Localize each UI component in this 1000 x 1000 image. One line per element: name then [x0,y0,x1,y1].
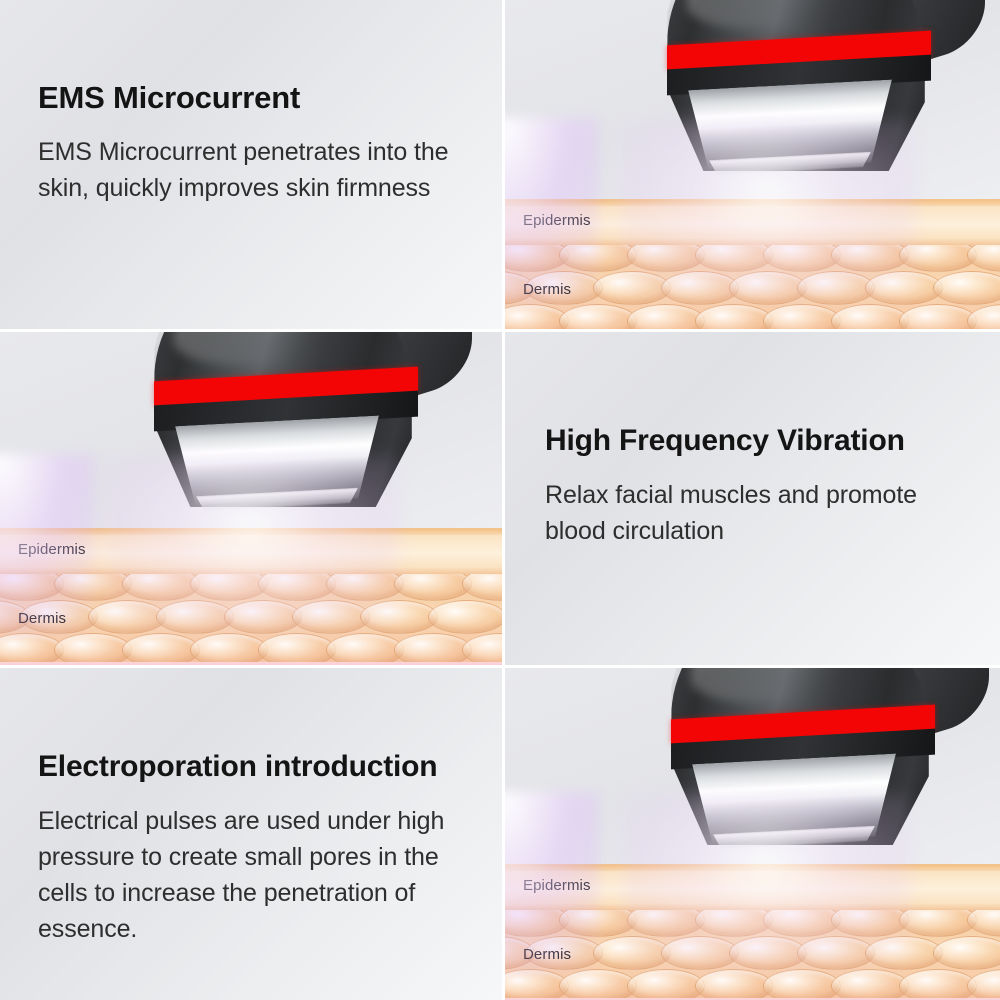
device-body [641,0,971,171]
panel-body-electroporation: Electrical pulses are used under high pr… [38,803,472,947]
skin-label-dermis: Dermis [18,610,66,627]
skin-cross-section: Epidermis Dermis M [0,528,502,668]
page-title-electroporation: Electroporation introduction [38,750,472,785]
skin-cross-section: Epidermis Dermis M [505,199,1000,332]
panel-high-frequency-illustration: Epidermis Dermis M [0,332,505,668]
dermis-cell-row [0,633,502,662]
skin-layer-epidermis: Epidermis [0,528,502,574]
dermis-cell-row [505,936,982,970]
panel-body-high-frequency: Relax facial muscles and promote blood c… [545,477,982,549]
skin-layer-dermis: Dermis [505,245,1000,332]
facial-device-illustration [645,668,975,845]
panel-high-frequency-text: High Frequency Vibration Relax facial mu… [505,332,1000,668]
dermis-cell-row [0,600,484,634]
device-gloss-highlight [174,332,346,365]
page-title-high-frequency: High Frequency Vibration [545,424,982,459]
skin-label-epidermis: Epidermis [523,212,591,229]
facial-device-illustration [641,0,971,171]
device-gloss-highlight [691,668,863,703]
panel-ems-microcurrent-text: EMS Microcurrent EMS Microcurrent penetr… [0,0,505,332]
skin-layer-epidermis: Epidermis [505,199,1000,245]
skin-label-dermis: Dermis [523,946,571,963]
device-body [645,668,975,845]
dermis-cell-row [505,969,1000,998]
device-body [128,332,458,507]
text-block: EMS Microcurrent EMS Microcurrent penetr… [0,0,502,206]
panel-body-ems: EMS Microcurrent penetrates into the ski… [38,134,472,206]
dermis-cell-row [505,910,1000,937]
panel-electroporation-text: Electroporation introduction Electrical … [0,668,505,1000]
skin-layer-epidermis: Epidermis [505,864,1000,910]
panel-electroporation-illustration: Epidermis Dermis M [505,668,1000,1000]
page-title-ems: EMS Microcurrent [38,80,472,116]
facial-device-illustration [128,332,458,507]
dermis-cell-row [505,271,982,305]
product-feature-infographic: EMS Microcurrent EMS Microcurrent penetr… [0,0,1000,1000]
text-block: High Frequency Vibration Relax facial mu… [505,332,1000,549]
skin-layer-dermis: Dermis [505,910,1000,998]
dermis-cell-row [0,574,502,601]
dermis-cell-row [505,245,1000,272]
skin-cross-section: Epidermis Dermis M [505,864,1000,1000]
text-block: Electroporation introduction Electrical … [0,668,502,947]
skin-label-epidermis: Epidermis [18,541,86,558]
dermis-cell-row [505,304,1000,332]
skin-label-dermis: Dermis [523,281,571,298]
panel-ems-microcurrent-illustration: Epidermis Dermis M [505,0,1000,332]
skin-layer-dermis: Dermis [0,574,502,662]
skin-label-epidermis: Epidermis [523,877,591,894]
